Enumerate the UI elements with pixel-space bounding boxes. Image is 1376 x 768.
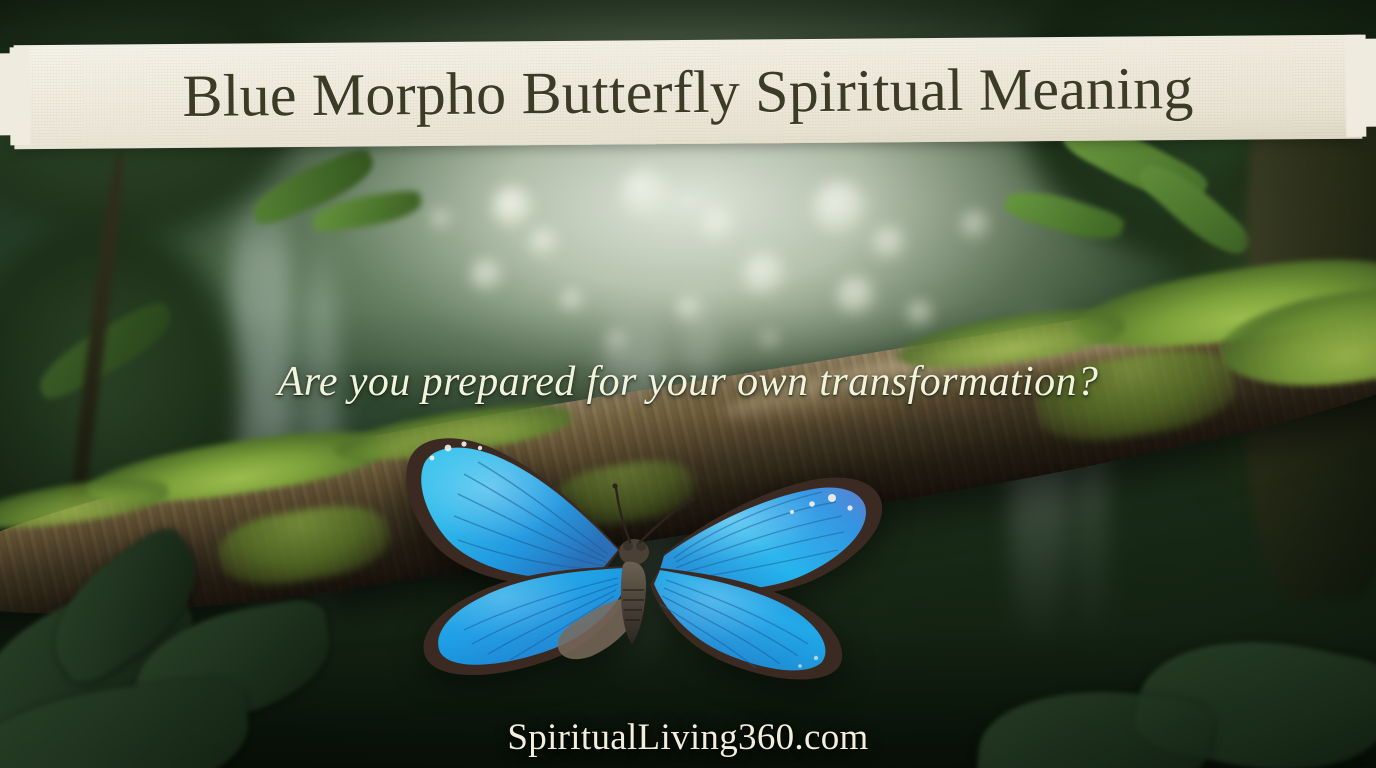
left-upper-wing xyxy=(406,438,620,585)
right-lower-wing xyxy=(650,568,842,679)
antenna-club xyxy=(689,496,694,501)
page-title: Blue Morpho Butterfly Spiritual Meaning xyxy=(0,31,1376,154)
antennae xyxy=(616,488,690,542)
site-watermark: SpiritualLiving360.com xyxy=(0,716,1376,759)
title-banner: Blue Morpho Butterfly Spiritual Meaning xyxy=(0,36,1376,148)
subtitle-question: Are you prepared for your own transforma… xyxy=(0,358,1376,406)
blue-morpho-butterfly xyxy=(392,418,898,694)
hero-image-canvas: Blue Morpho Butterfly Spiritual Meaning … xyxy=(0,0,1376,768)
antenna-club xyxy=(612,483,617,488)
